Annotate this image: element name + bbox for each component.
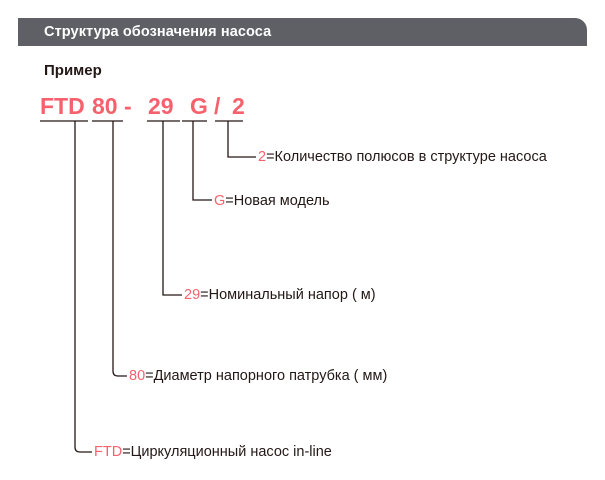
legend-item-g: G=Новая модель — [214, 194, 330, 209]
leader-line-29 — [163, 121, 182, 295]
legend-key-g: G — [214, 193, 225, 209]
legend-key-29: 29 — [184, 287, 200, 303]
example-caption: Пример — [44, 62, 102, 79]
code-token-dash: - — [124, 93, 132, 119]
legend-key-ftd: FTD — [94, 444, 122, 460]
legend-description-29: Номинальный напор ( м) — [209, 287, 376, 303]
code-token-2: 2 — [232, 93, 245, 119]
leader-line-g — [193, 121, 212, 200]
code-token-slash: / — [214, 93, 220, 119]
legend-eq-29: = — [200, 287, 208, 303]
legend-eq-80: = — [145, 368, 153, 384]
legend-eq-2: = — [266, 149, 274, 165]
leader-line-80 — [113, 121, 127, 376]
legend-item-29: 29=Номинальный напор ( м) — [184, 288, 376, 303]
legend-item-ftd: FTD=Циркуляционный насос in-line — [94, 445, 332, 460]
section-header-bar: Структура обозначения насоса — [18, 18, 587, 46]
code-token-ftd: FTD — [40, 93, 85, 119]
legend-description-80: Диаметр напорного патрубка ( мм) — [154, 368, 388, 384]
legend-key-80: 80 — [129, 368, 145, 384]
code-token-80: 80 — [92, 93, 118, 119]
legend-description-ftd: Циркуляционный насос in-line — [131, 444, 332, 460]
code-token-g: G — [190, 93, 208, 119]
legend-item-2: 2=Количество полюсов в структуре насоса — [258, 150, 547, 165]
legend-eq-g: = — [225, 193, 233, 209]
leader-line-2 — [228, 121, 256, 157]
legend-description-g: Новая модель — [234, 193, 330, 209]
legend-item-80: 80=Диаметр напорного патрубка ( мм) — [129, 369, 387, 384]
code-token-29: 29 — [148, 93, 174, 119]
leader-line-ftd — [75, 121, 92, 452]
legend-key-2: 2 — [258, 149, 266, 165]
legend-description-2: Количество полюсов в структуре насоса — [275, 149, 547, 165]
legend-eq-ftd: = — [122, 444, 130, 460]
page-title: Структура обозначения насоса — [44, 24, 271, 40]
